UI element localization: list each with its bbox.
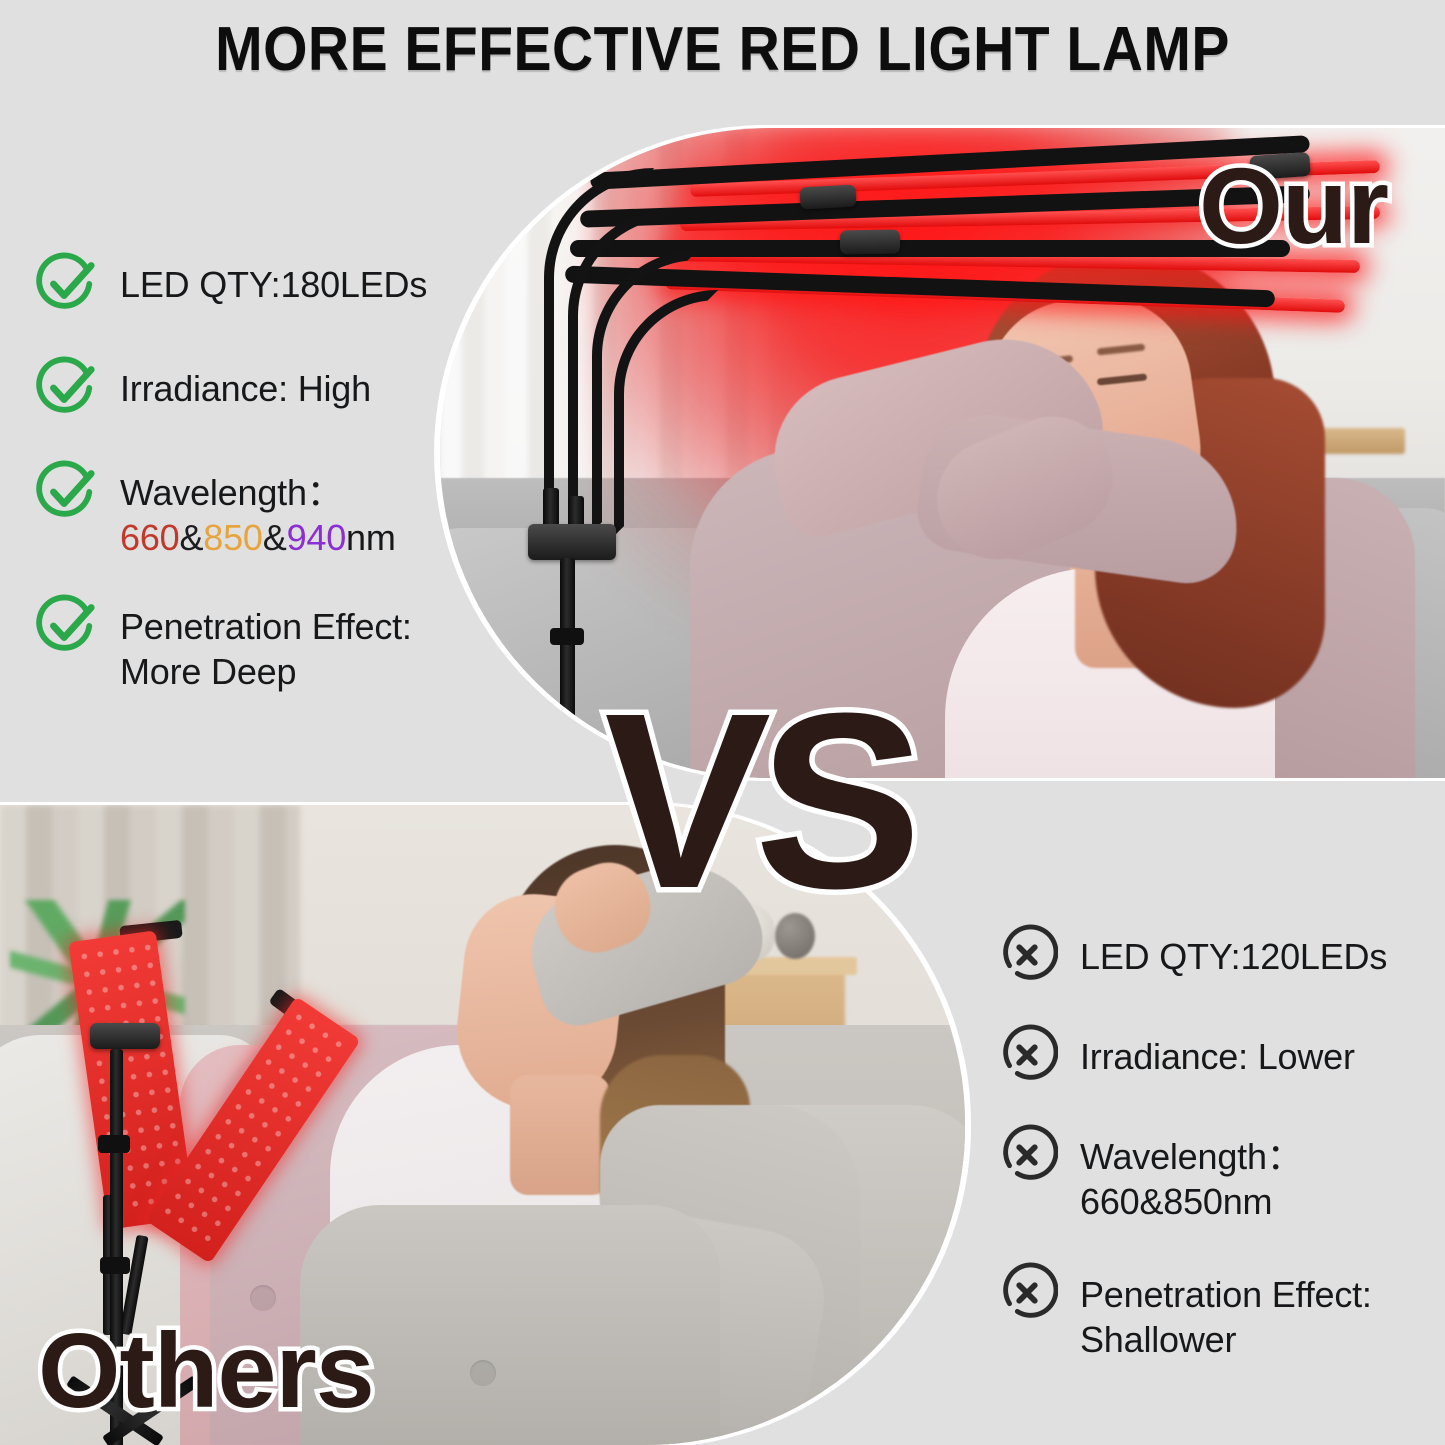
wavelength-unit: nm [346, 517, 396, 558]
list-item: Wavelength： 660&850nm [996, 1130, 1426, 1224]
lamp-collar [528, 524, 616, 560]
check-circle-icon [36, 356, 98, 418]
feature-text: LED QTY:180LEDs [120, 258, 427, 307]
ours-feature-list: LED QTY:180LEDs Irradiance: High Wavelen… [36, 258, 466, 742]
cross-circle-icon [996, 924, 1058, 986]
feature-text-wavelength: Wavelength： 660&850nm [1080, 1130, 1303, 1224]
model2-neck [510, 1075, 610, 1195]
wavelength-940: 940 [287, 517, 346, 558]
wavelength-label: Wavelength： [1080, 1136, 1303, 1177]
feature-text-wavelength: Wavelength： 660&850&940nm [120, 466, 396, 560]
feature-text-penetration: Penetration Effect: Shallower [1080, 1268, 1372, 1362]
feature-text: Irradiance: High [120, 362, 371, 411]
list-item: Penetration Effect: More Deep [36, 600, 466, 694]
sofa-button-1 [250, 1285, 276, 1311]
cross-circle-icon [996, 1124, 1058, 1186]
lamp-joint-2 [840, 229, 900, 254]
vs-divider-label: VS [593, 676, 920, 926]
ours-badge: Our [1199, 152, 1388, 260]
list-item: Wavelength： 660&850&940nm [36, 466, 466, 560]
cross-circle-icon [996, 1024, 1058, 1086]
wavelength-660: 660 [120, 517, 179, 558]
others-knob-2 [100, 1257, 130, 1274]
penetration-label: Penetration Effect: [1080, 1274, 1372, 1315]
wavelength-sep-2: & [263, 517, 287, 558]
wavelength-values: 660&850nm [1080, 1179, 1303, 1224]
lamp-neck-stub-1 [543, 488, 559, 528]
check-circle-icon [36, 252, 98, 314]
lamp-height-knob-2 [552, 728, 584, 744]
others-lamp-collar [90, 1023, 160, 1049]
others-badge: Others [38, 1318, 374, 1424]
list-item: LED QTY:180LEDs [36, 258, 466, 314]
penetration-value: More Deep [120, 649, 412, 694]
others-feature-list: LED QTY:120LEDs Irradiance: Lower Wavele… [996, 930, 1426, 1406]
lamp-pole [560, 558, 575, 778]
list-item: LED QTY:120LEDs [996, 930, 1426, 986]
wavelength-850: 850 [203, 517, 262, 558]
page-title: MORE EFFECTIVE RED LIGHT LAMP [58, 14, 1387, 85]
check-circle-icon [36, 460, 98, 522]
penetration-label: Penetration Effect: [120, 606, 412, 647]
list-item: Irradiance: Lower [996, 1030, 1426, 1086]
lamp-height-knob-1 [550, 628, 584, 645]
others-knob-1 [98, 1135, 130, 1153]
check-circle-icon [36, 594, 98, 656]
wavelength-sep-1: & [179, 517, 203, 558]
comparison-infographic: MORE EFFECTIVE RED LIGHT LAMP [0, 0, 1445, 1445]
feature-text: LED QTY:120LEDs [1080, 930, 1387, 979]
feature-text-penetration: Penetration Effect: More Deep [120, 600, 412, 694]
penetration-value: Shallower [1080, 1317, 1372, 1362]
wavelength-values: 660&850&940nm [120, 515, 396, 560]
list-item: Penetration Effect: Shallower [996, 1268, 1426, 1362]
wavelength-label: Wavelength： [120, 472, 343, 513]
cross-circle-icon [996, 1262, 1058, 1324]
feature-text: Irradiance: Lower [1080, 1030, 1355, 1079]
list-item: Irradiance: High [36, 362, 466, 418]
sofa-button-2 [470, 1360, 496, 1386]
lamp-joint-1 [799, 185, 856, 210]
